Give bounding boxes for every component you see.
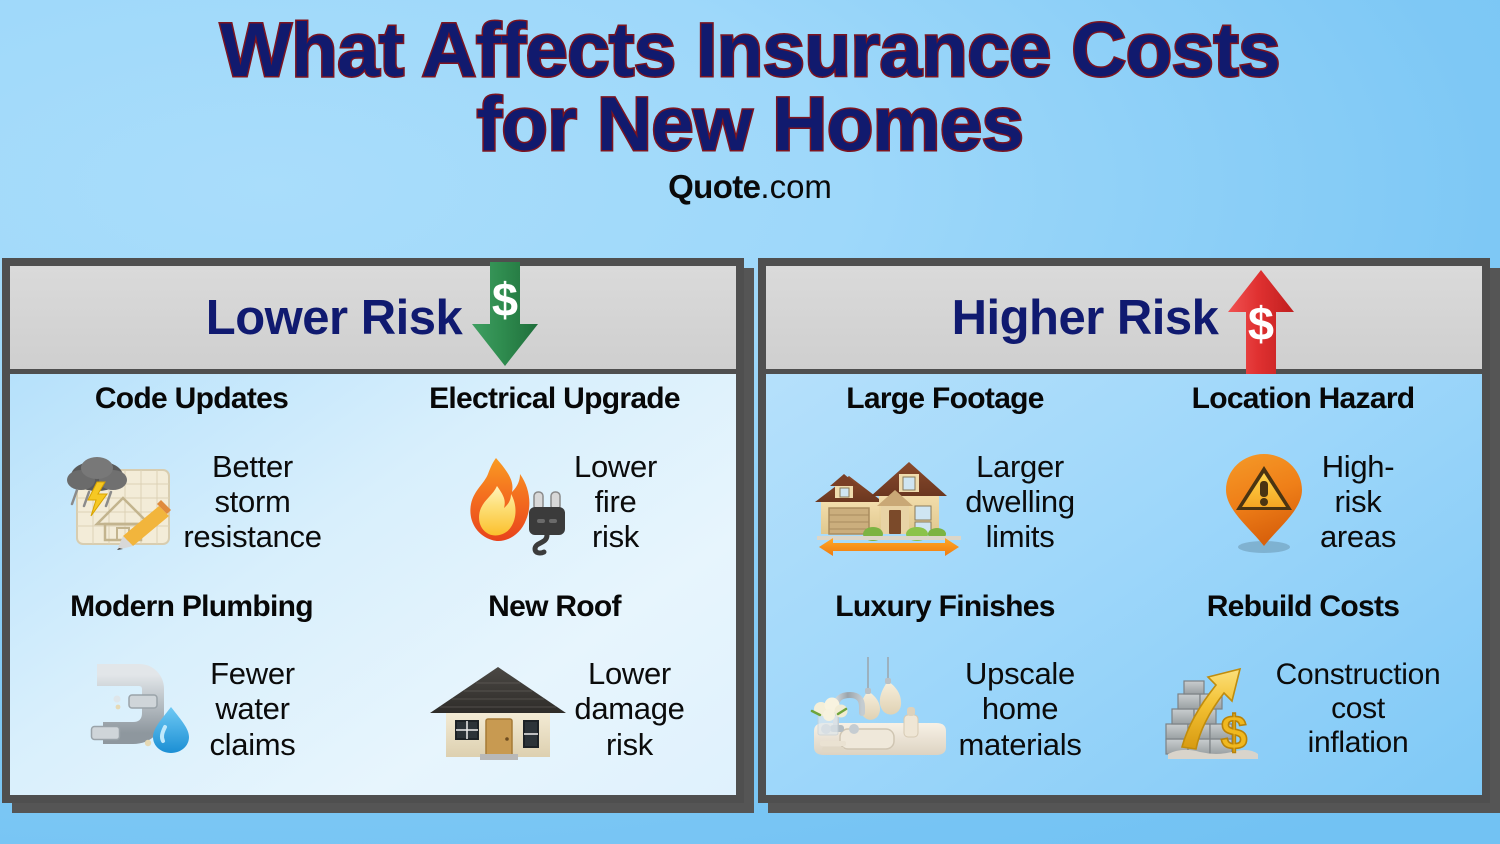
feature-card-modern-plumbing[interactable]: Modern Plumbing xyxy=(10,588,373,796)
panel-higher-risk-header: Higher Risk $ xyxy=(766,266,1482,374)
feature-title: Rebuild Costs xyxy=(1207,590,1400,624)
feature-title: Luxury Finishes xyxy=(835,590,1055,624)
svg-text:$: $ xyxy=(1248,297,1274,350)
bricks-rising-dollar-icon: $ xyxy=(1166,655,1274,763)
dollar-up-arrow-icon: $ xyxy=(1226,268,1296,368)
panel-higher-risk-body: Large Footage xyxy=(766,374,1482,795)
map-pin-warning-icon xyxy=(1210,448,1318,556)
dollar-down-arrow-icon: $ xyxy=(470,268,540,368)
feature-card-location-hazard[interactable]: Location Hazard xyxy=(1124,380,1482,588)
feature-desc: Lower fire risk xyxy=(574,449,657,555)
feature-title: Modern Plumbing xyxy=(70,590,313,624)
brand-tld: .com xyxy=(760,168,832,205)
brand-name: Quote xyxy=(668,168,760,205)
panel-lower-risk-title: Lower Risk xyxy=(206,290,462,346)
panel-lower-risk-body: Code Updates xyxy=(10,374,736,795)
feature-desc: High- risk areas xyxy=(1320,449,1396,555)
fire-plug-icon xyxy=(452,448,572,556)
svg-text:$: $ xyxy=(492,273,518,326)
feature-card-electrical-upgrade[interactable]: Electrical Upgrade xyxy=(373,380,736,588)
large-house-width-arrow-icon xyxy=(815,448,963,556)
panel-lower-risk-header: Lower Risk $ xyxy=(10,266,736,374)
feature-card-code-updates[interactable]: Code Updates xyxy=(10,380,373,588)
panel-higher-risk: Higher Risk $ xyxy=(758,258,1490,803)
pipe-droplet-icon xyxy=(87,655,207,763)
feature-desc: Upscale home materials xyxy=(958,656,1081,762)
svg-text:$: $ xyxy=(1220,707,1247,760)
feature-desc: Fewer water claims xyxy=(209,656,295,762)
feature-title: Large Footage xyxy=(846,382,1044,416)
feature-card-rebuild-costs[interactable]: Rebuild Costs xyxy=(1124,588,1482,796)
feature-title: Electrical Upgrade xyxy=(429,382,680,416)
feature-card-new-roof[interactable]: New Roof xyxy=(373,588,736,796)
feature-desc: Larger dwelling limits xyxy=(965,449,1075,555)
feature-title: Code Updates xyxy=(95,382,288,416)
page-title-line-2: for New Homes xyxy=(0,88,1500,162)
feature-title: New Roof xyxy=(488,590,621,624)
house-roof-icon xyxy=(424,655,572,763)
feature-title: Location Hazard xyxy=(1192,382,1415,416)
panel-lower-risk: Lower Risk $ xyxy=(2,258,744,803)
feature-card-large-footage[interactable]: Large Footage xyxy=(766,380,1124,588)
panel-higher-risk-title: Higher Risk xyxy=(952,290,1219,346)
feature-desc: Construction cost inflation xyxy=(1276,658,1441,761)
brand-logo: Quote.com xyxy=(0,168,1500,206)
luxury-vanity-icon xyxy=(808,655,956,763)
page-title-line-1: What Affects Insurance Costs xyxy=(0,14,1500,88)
blueprint-storm-icon xyxy=(61,448,181,556)
feature-card-luxury-finishes[interactable]: Luxury Finishes xyxy=(766,588,1124,796)
title-block: What Affects Insurance Costs for New Hom… xyxy=(0,14,1500,206)
feature-desc: Lower damage risk xyxy=(574,656,684,762)
feature-desc: Better storm resistance xyxy=(183,449,321,555)
